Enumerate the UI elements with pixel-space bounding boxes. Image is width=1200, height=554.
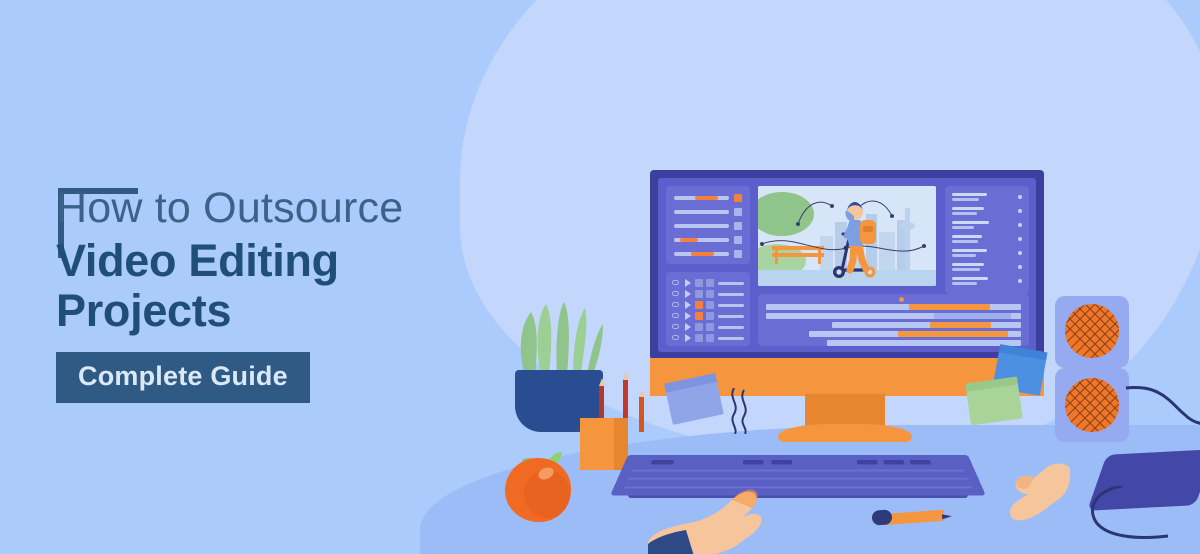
layer-row-4[interactable]: [672, 312, 744, 320]
tablet-cable: [1078, 486, 1198, 554]
slider-toggle-box[interactable]: [734, 250, 742, 258]
properties-panel[interactable]: [945, 186, 1029, 294]
layer-swatch-b[interactable]: [706, 323, 714, 331]
effect-slider-4[interactable]: [674, 237, 742, 243]
layer-row-1[interactable]: [672, 279, 744, 287]
property-label-line: [952, 193, 987, 196]
slider-track[interactable]: [674, 224, 729, 228]
property-value-line: [952, 254, 976, 257]
effect-slider-5[interactable]: [674, 251, 742, 257]
timeline-track-panel[interactable]: [758, 294, 1029, 346]
layer-swatch-a[interactable]: [695, 323, 703, 331]
effects-slider-panel[interactable]: [666, 186, 750, 264]
property-value-line: [952, 268, 980, 271]
timeline-clip-4[interactable]: [898, 331, 1008, 337]
property-row-5[interactable]: [952, 248, 1022, 259]
layer-name-placeholder: [718, 337, 744, 340]
property-label-line: [952, 235, 982, 238]
property-value-line: [952, 282, 977, 285]
plant-leaves: [515, 300, 603, 375]
visibility-eye-icon[interactable]: [672, 302, 679, 307]
layer-row-5[interactable]: [672, 323, 744, 331]
property-label-line: [952, 277, 988, 280]
pencil-red: [622, 372, 630, 424]
effect-slider-3[interactable]: [674, 223, 742, 229]
visibility-eye-icon[interactable]: [672, 291, 679, 296]
timeline-clip-1[interactable]: [909, 304, 991, 310]
property-label-line: [952, 221, 989, 224]
sticky-note-green: [965, 377, 1022, 426]
property-value-line: [952, 198, 979, 201]
layer-swatch-a[interactable]: [695, 279, 703, 287]
layer-row-2[interactable]: [672, 290, 744, 298]
layer-row-3[interactable]: [672, 301, 744, 309]
monitor-cable-squiggle: [726, 388, 754, 434]
property-bullet-icon[interactable]: [1018, 223, 1022, 227]
layer-name-placeholder: [718, 326, 744, 329]
timeline-clip-2[interactable]: [934, 313, 1011, 319]
property-row-6[interactable]: [952, 262, 1022, 273]
property-row-2[interactable]: [952, 206, 1022, 217]
slider-fill[interactable]: [695, 196, 718, 200]
property-bullet-icon[interactable]: [1018, 279, 1022, 283]
poster-canvas: How to Outsource Video Editing Projects …: [0, 0, 1200, 554]
layer-name-placeholder: [718, 315, 744, 318]
layer-name-placeholder: [718, 293, 744, 296]
property-label-line: [952, 249, 987, 252]
property-row-3[interactable]: [952, 220, 1022, 231]
property-row-4[interactable]: [952, 234, 1022, 245]
timeline-track-3[interactable]: [832, 322, 1021, 328]
play-triangle-icon[interactable]: [685, 323, 691, 331]
property-bullet-icon[interactable]: [1018, 265, 1022, 269]
property-value-line: [952, 240, 978, 243]
slider-fill[interactable]: [680, 238, 699, 242]
property-bullet-icon[interactable]: [1018, 195, 1022, 199]
video-preview-window[interactable]: [758, 186, 936, 286]
property-value-line: [952, 212, 977, 215]
monitor-stand-base: [778, 424, 912, 442]
timeline-playhead[interactable]: [899, 297, 904, 302]
layer-track-panel[interactable]: [666, 272, 750, 346]
layer-name-placeholder: [718, 282, 744, 285]
headline-line-2: Video Editing Projects: [56, 236, 526, 337]
property-bullet-icon[interactable]: [1018, 237, 1022, 241]
effect-slider-2[interactable]: [674, 209, 742, 215]
slider-track[interactable]: [674, 210, 729, 214]
slider-fill[interactable]: [691, 252, 714, 256]
play-triangle-icon[interactable]: [685, 279, 691, 287]
slider-toggle-box[interactable]: [734, 222, 742, 230]
monitor-stand-neck: [805, 394, 885, 428]
slider-toggle-box[interactable]: [734, 236, 742, 244]
layer-swatch-b[interactable]: [706, 279, 714, 287]
property-bullet-icon[interactable]: [1018, 209, 1022, 213]
headline-block: How to Outsource Video Editing Projects …: [56, 186, 526, 403]
layer-swatch-a[interactable]: [695, 312, 703, 320]
headline-line-1: How to Outsource: [56, 186, 526, 232]
property-row-1[interactable]: [952, 192, 1022, 203]
property-label-line: [952, 207, 984, 210]
speaker-bottom-grille: [1065, 378, 1119, 432]
complete-guide-badge: Complete Guide: [56, 352, 310, 403]
speaker-cable: [1126, 380, 1200, 450]
pencil-orange: [638, 390, 646, 430]
slider-toggle-box[interactable]: [734, 208, 742, 216]
left-hand: [648, 446, 838, 554]
visibility-eye-icon[interactable]: [672, 313, 679, 318]
play-triangle-icon[interactable]: [685, 312, 691, 320]
slider-toggle-box[interactable]: [734, 194, 742, 202]
layer-swatch-b[interactable]: [706, 334, 714, 342]
property-label-line: [952, 263, 984, 266]
layer-row-6[interactable]: [672, 334, 744, 342]
property-value-line: [952, 226, 974, 229]
speaker-top-grille: [1065, 304, 1119, 358]
layer-swatch-b[interactable]: [706, 290, 714, 298]
visibility-eye-icon[interactable]: [672, 280, 679, 285]
play-triangle-icon[interactable]: [685, 334, 691, 342]
layer-swatch-b[interactable]: [706, 312, 714, 320]
visibility-eye-icon[interactable]: [672, 324, 679, 329]
property-row-7[interactable]: [952, 276, 1022, 287]
play-triangle-icon[interactable]: [685, 290, 691, 298]
effect-slider-1[interactable]: [674, 195, 742, 201]
visibility-eye-icon[interactable]: [672, 335, 679, 340]
layer-name-placeholder: [718, 304, 744, 307]
layer-swatch-a[interactable]: [695, 290, 703, 298]
timeline-track-5[interactable]: [827, 340, 1021, 346]
layer-swatch-a[interactable]: [695, 334, 703, 342]
property-bullet-icon[interactable]: [1018, 251, 1022, 255]
layer-swatch-b[interactable]: [706, 301, 714, 309]
right-hand: [950, 448, 1070, 554]
scooter-rider-figure: [820, 198, 892, 280]
layer-swatch-a[interactable]: [695, 301, 703, 309]
timeline-clip-3[interactable]: [930, 322, 990, 328]
play-triangle-icon[interactable]: [685, 301, 691, 309]
